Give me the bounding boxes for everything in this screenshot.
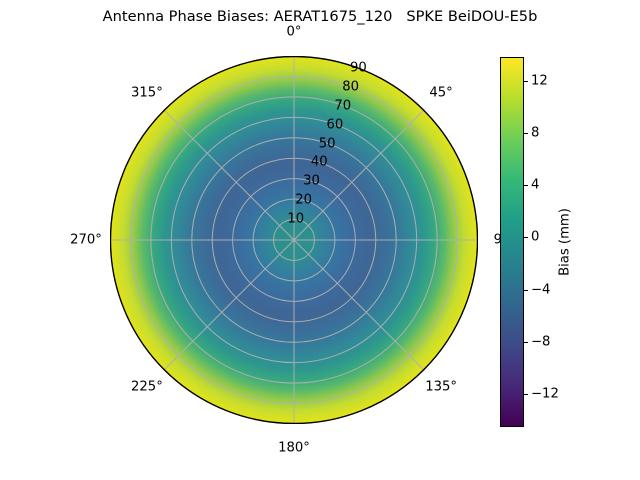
angular-tick-label-135: 135° — [425, 380, 457, 395]
angular-tick-label-270: 270° — [70, 233, 102, 248]
page-title: Antenna Phase Biases: AERAT1675_120 SPKE… — [0, 8, 640, 25]
colorbar-tick-label: 8 — [531, 125, 539, 140]
colorbar-tick-mark — [524, 394, 528, 395]
polar-gridlines — [110, 56, 478, 424]
matplotlib-figure: Antenna Phase Biases: AERAT1675_120 SPKE… — [0, 0, 640, 480]
colorbar-tick-label: −8 — [531, 335, 550, 350]
colorbar-tick-label: 12 — [531, 73, 548, 88]
angular-tick-label-180: 180° — [278, 441, 310, 456]
radial-tick-label-80: 80 — [342, 79, 359, 94]
colorbar-axis-label: Bias (mm) — [558, 208, 573, 276]
colorbar-tick-mark — [524, 342, 528, 343]
colorbar-tick-mark — [524, 237, 528, 238]
angular-tick-label-225: 225° — [131, 380, 163, 395]
colorbar-tick-mark — [524, 290, 528, 291]
radial-tick-label-10: 10 — [287, 212, 304, 227]
polar-plot-surface — [110, 56, 478, 424]
angular-tick-label-45: 45° — [429, 85, 452, 100]
colorbar-axes: 12840−4−8−12 — [500, 57, 524, 427]
radial-tick-label-30: 30 — [303, 174, 320, 189]
colorbar-tick-label: 0 — [531, 230, 539, 245]
radial-tick-label-20: 20 — [295, 193, 312, 208]
angular-tick-label-0: 0° — [287, 25, 302, 40]
radial-tick-label-60: 60 — [327, 117, 344, 132]
radial-tick-label-50: 50 — [319, 136, 336, 151]
polar-axes: 0°45°90135°180°225°270°315° 102030405060… — [110, 56, 478, 424]
radial-tick-label-70: 70 — [334, 98, 351, 113]
colorbar-tick-mark — [524, 81, 528, 82]
colorbar-tick-mark — [524, 185, 528, 186]
colorbar-tick-label: 4 — [531, 178, 539, 193]
radial-tick-label-40: 40 — [311, 155, 328, 170]
colorbar-tick-label: −12 — [531, 387, 559, 402]
colorbar-tick-label: −4 — [531, 282, 550, 297]
angular-tick-label-315: 315° — [131, 85, 163, 100]
radial-tick-label-90: 90 — [350, 61, 367, 76]
colorbar-gradient — [500, 57, 524, 427]
colorbar-tick-mark — [524, 133, 528, 134]
